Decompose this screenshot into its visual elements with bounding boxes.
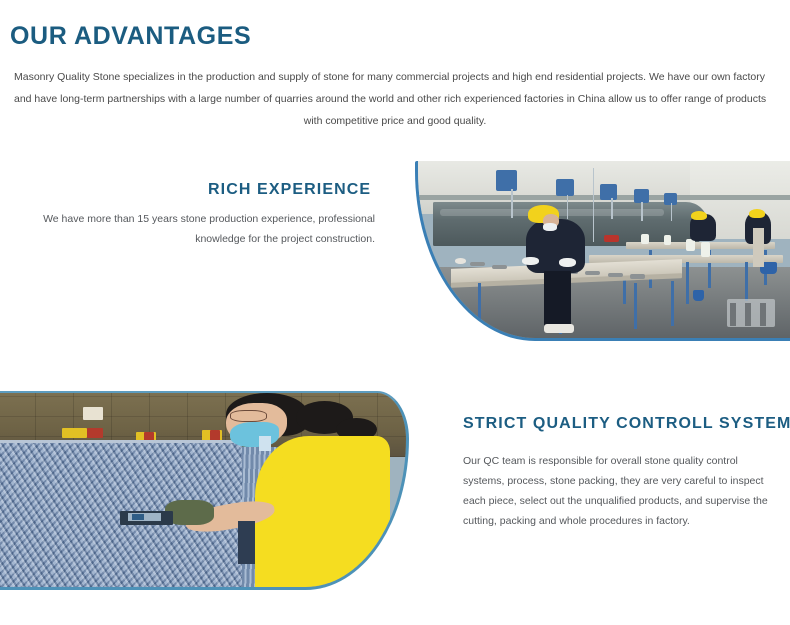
photo-workshop-canvas [418, 161, 790, 338]
photo-quality-inspection [0, 391, 409, 590]
photo-qc-canvas [0, 393, 406, 587]
photo-factory-workshop [415, 161, 790, 341]
section-title-strict-quality-control: STRICT QUALITY CONTROLL SYSTEM [463, 415, 790, 433]
section-body-rich-experience: We have more than 15 years stone product… [40, 209, 375, 249]
intro-paragraph: Masonry Quality Stone specializes in the… [8, 66, 782, 132]
page-title: OUR ADVANTAGES [10, 22, 251, 51]
section-body-strict-quality-control: Our QC team is responsible for overall s… [463, 451, 779, 531]
intro-line-1: Masonry Quality Stone specializes in the… [8, 66, 782, 88]
section-title-rich-experience: RICH EXPERIENCE [208, 181, 371, 199]
advantages-page: OUR ADVANTAGES Masonry Quality Stone spe… [0, 0, 790, 625]
intro-line-2: and have long-term partnerships with a l… [8, 88, 782, 110]
intro-line-3: with competitive price and good quality. [8, 110, 782, 132]
